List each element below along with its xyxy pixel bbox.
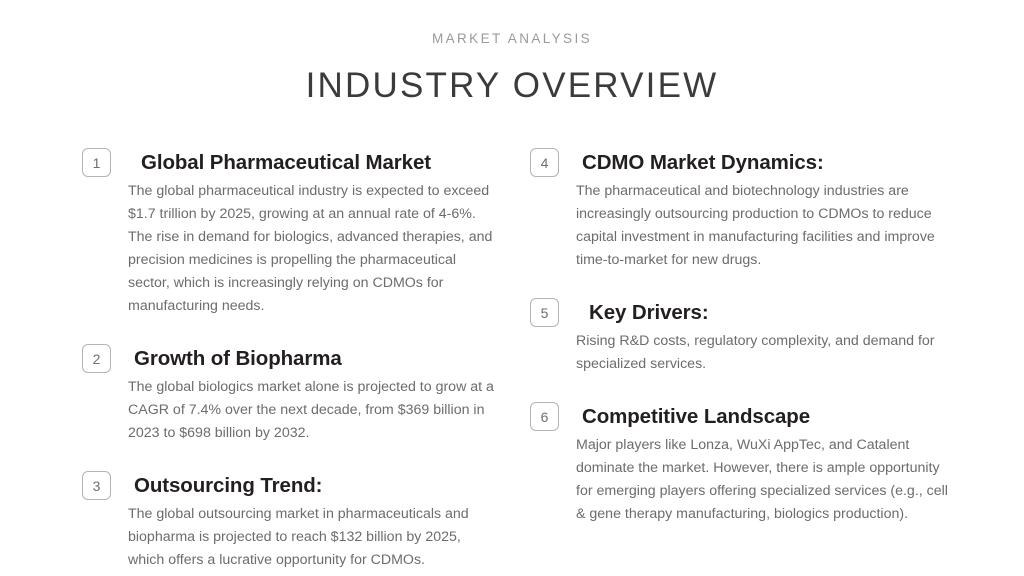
item-body-text: The global biologics market alone is pro…: [128, 376, 496, 445]
item-header: 4 CDMO Market Dynamics:: [530, 148, 960, 177]
item-body-text: The global outsourcing market in pharmac…: [128, 503, 496, 572]
list-item: 5 Key Drivers: Rising R&D costs, regulat…: [530, 298, 960, 376]
item-number-badge: 5: [530, 298, 559, 327]
item-title: Growth of Biopharma: [134, 347, 342, 371]
item-header: 3 Outsourcing Trend:: [82, 471, 498, 500]
item-body-text: Rising R&D costs, regulatory complexity,…: [576, 330, 948, 376]
list-item: 6 Competitive Landscape Major players li…: [530, 402, 960, 526]
list-item: 4 CDMO Market Dynamics: The pharmaceutic…: [530, 148, 960, 272]
item-body-text: Major players like Lonza, WuXi AppTec, a…: [576, 434, 948, 526]
item-header: 6 Competitive Landscape: [530, 402, 960, 431]
content-columns: 1 Global Pharmaceutical Market The globa…: [0, 148, 1024, 572]
slide-eyebrow: MARKET ANALYSIS: [0, 32, 1024, 46]
item-number-badge: 1: [82, 148, 111, 177]
list-item: 2 Growth of Biopharma The global biologi…: [82, 344, 498, 445]
left-column: 1 Global Pharmaceutical Market The globa…: [0, 148, 512, 572]
list-item: 1 Global Pharmaceutical Market The globa…: [82, 148, 498, 318]
item-title: Competitive Landscape: [582, 405, 810, 429]
item-header: 2 Growth of Biopharma: [82, 344, 498, 373]
item-number-badge: 2: [82, 344, 111, 373]
list-item: 3 Outsourcing Trend: The global outsourc…: [82, 471, 498, 572]
item-title: Outsourcing Trend:: [134, 474, 322, 498]
item-number-badge: 4: [530, 148, 559, 177]
page-title: INDUSTRY OVERVIEW: [0, 68, 1024, 103]
item-header: 1 Global Pharmaceutical Market: [82, 148, 498, 177]
slide-header: MARKET ANALYSIS INDUSTRY OVERVIEW: [0, 0, 1024, 103]
item-number-badge: 3: [82, 471, 111, 500]
item-header: 5 Key Drivers:: [530, 298, 960, 327]
right-column-inner: 4 CDMO Market Dynamics: The pharmaceutic…: [530, 148, 960, 526]
item-title: CDMO Market Dynamics:: [582, 151, 824, 175]
slide-industry-overview: MARKET ANALYSIS INDUSTRY OVERVIEW 1 Glob…: [0, 0, 1024, 576]
item-title: Global Pharmaceutical Market: [141, 151, 431, 175]
item-body-text: The pharmaceutical and biotechnology ind…: [576, 180, 948, 272]
item-number-badge: 6: [530, 402, 559, 431]
item-body-text: The global pharmaceutical industry is ex…: [128, 180, 496, 318]
item-title: Key Drivers:: [589, 301, 709, 325]
